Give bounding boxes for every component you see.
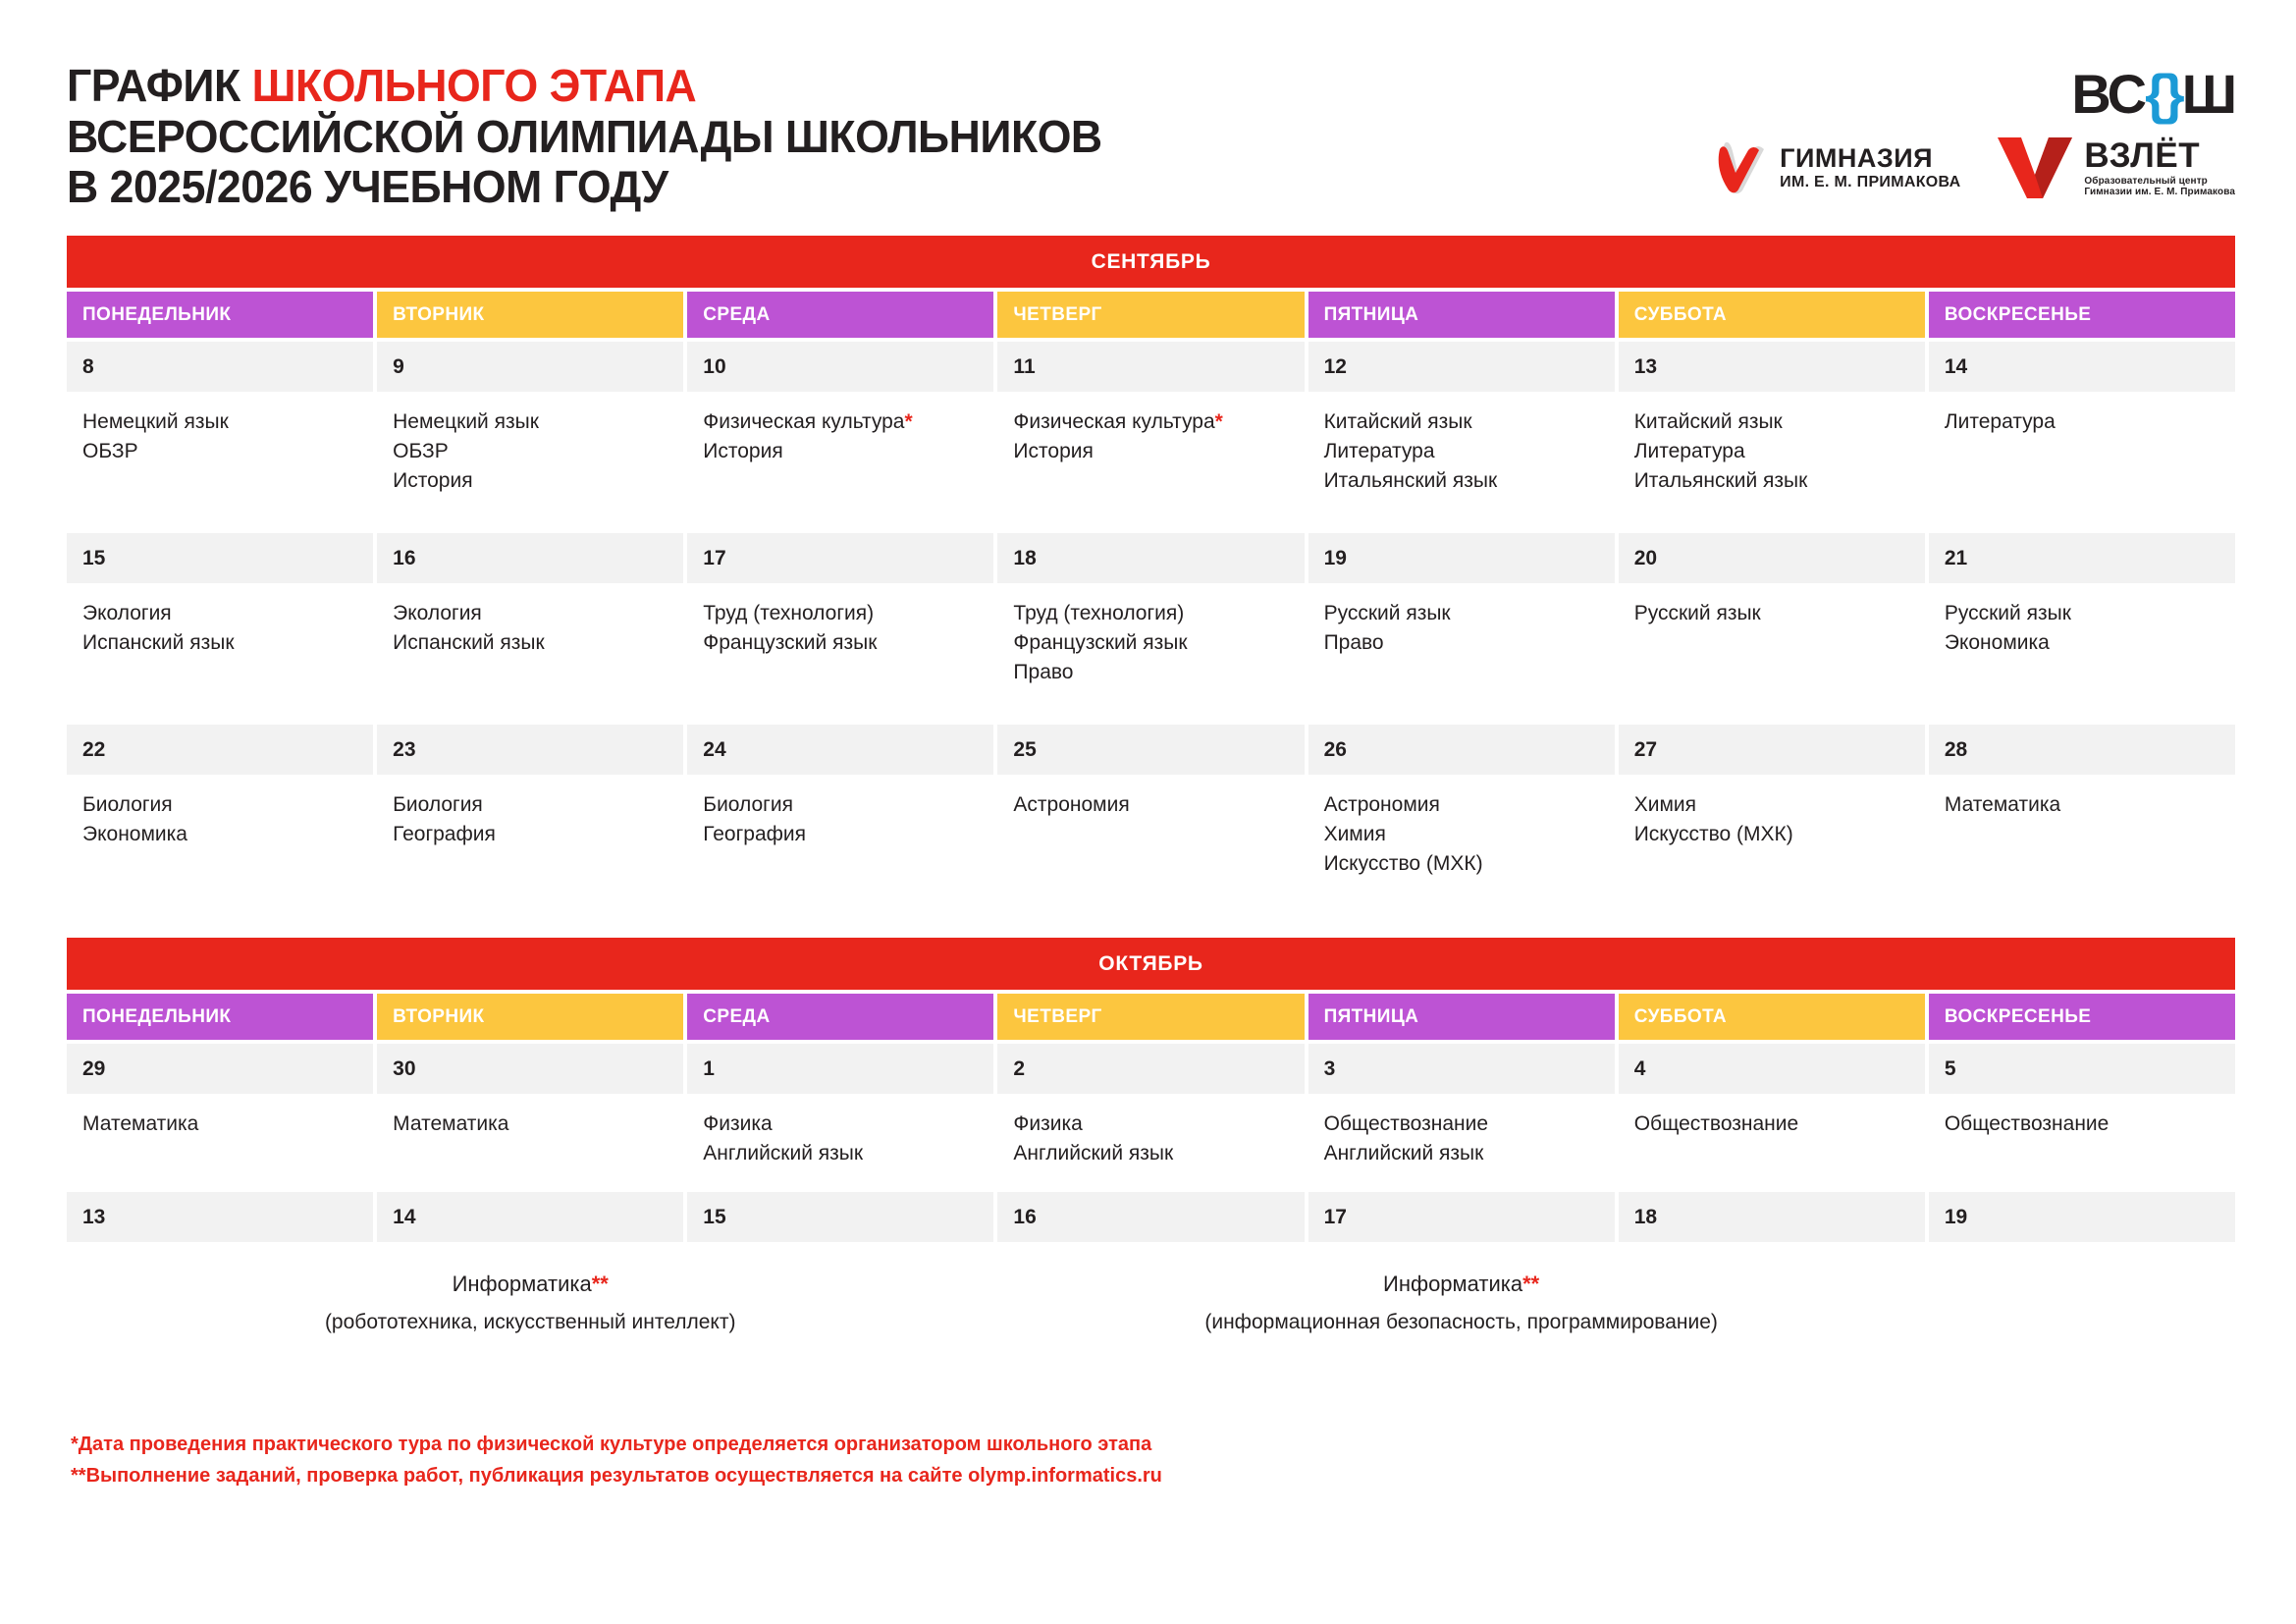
vsosh-logo-part2: Ш [2182,67,2235,122]
footnote-marker: ** [592,1272,609,1296]
day-subject-list: Обществознание [1929,1094,2235,1174]
day-number[interactable]: 16 [997,1192,1304,1242]
day-of-week-header-5: СУББОТА [1619,994,1925,1040]
day-number[interactable]: 13 [67,1192,373,1242]
day-number: 29 [67,1044,373,1094]
day-of-week-header-4: ПЯТНИЦА [1308,994,1615,1040]
subject-item: Биология [703,790,978,820]
day-number: 17 [687,533,993,583]
subject-item: Немецкий язык [82,407,357,437]
day-subject-list: ОбществознаниеАнглийский язык [1308,1094,1615,1188]
day-subject-list: Труд (технология)Французский языкПраво [997,583,1304,721]
title-line-3: В 2025/2026 УЧЕБНОМ ГОДУ [67,162,1102,213]
day-number: 23 [377,725,683,775]
day-number: 26 [1308,725,1615,775]
day-number: 15 [67,533,373,583]
subject-item: Математика [393,1110,667,1139]
day-cell[interactable]: 29Математика [67,1044,373,1188]
day-of-week-header-3: ЧЕТВЕРГ [997,292,1304,338]
day-cell[interactable]: 2ФизикаАнглийский язык [997,1044,1304,1188]
day-number: 2 [997,1044,1304,1094]
title-line-1-plain: ГРАФИК [67,60,252,111]
footnote-marker: * [1215,410,1223,433]
subject-item: Итальянский язык [1634,466,1909,496]
subject-item: Право [1324,628,1599,658]
informatics-span-row: Информатика**(робототехника, искусственн… [67,1246,2235,1374]
subject-item: Литература [1324,437,1599,466]
v-letter-icon [1998,137,2072,198]
week-row: 22БиологияЭкономика23БиологияГеография24… [67,725,2235,912]
day-subject-list: ФизикаАнглийский язык [687,1094,993,1188]
page-title: ГРАФИК ШКОЛЬНОГО ЭТАПА ВСЕРОССИЙСКОЙ ОЛИ… [67,61,1134,213]
day-subject-list: ЭкологияИспанский язык [377,583,683,721]
day-subject-list: Литература [1929,392,2235,529]
day-subject-list: Китайский языкЛитератураИтальянский язык [1308,392,1615,529]
day-number: 25 [997,725,1304,775]
informatics-label: Информатика [1383,1272,1522,1296]
subject-item: Экономика [82,820,357,849]
day-number: 22 [67,725,373,775]
subject-item: История [393,466,667,496]
day-cell[interactable]: 20Русский язык [1619,533,1925,721]
subject-item: Русский язык [1945,599,2219,628]
day-cell[interactable]: 30Математика [377,1044,683,1188]
informatics-subtitle: (робототехника, искусственный интеллект) [325,1311,736,1334]
title-line-1-accent: ШКОЛЬНОГО ЭТАПА [252,60,697,111]
day-of-week-header-3: ЧЕТВЕРГ [997,994,1304,1040]
week-row: 15ЭкологияИспанский язык16ЭкологияИспанс… [67,533,2235,721]
vsosh-logo-part1: ВС [2071,67,2145,122]
subject-item: Обществознание [1634,1110,1909,1139]
day-of-week-header-0: ПОНЕДЕЛЬНИК [67,994,373,1040]
day-of-week-header-6: ВОСКРЕСЕНЬЕ [1929,292,2235,338]
day-number: 27 [1619,725,1925,775]
calendar: СЕНТЯБРЬПОНЕДЕЛЬНИКВТОРНИКСРЕДАЧЕТВЕРГПЯ… [0,236,2296,1374]
subject-item: Право [1013,658,1288,687]
subject-item: Экология [393,599,667,628]
subject-item: Английский язык [703,1139,978,1168]
day-cell[interactable]: 11Физическая культура*История [997,342,1304,529]
subject-item: Русский язык [1634,599,1909,628]
day-of-week-header-4: ПЯТНИЦА [1308,292,1615,338]
gimnaziya-text: ГИМНАЗИЯ ИМ. Е. М. ПРИМАКОВА [1780,144,1960,191]
day-cell[interactable]: 16ЭкологияИспанский язык [377,533,683,721]
subject-item: Химия [1634,790,1909,820]
logo-area: ВС {} Ш ГИМНАЗИЯ ИМ. Е. М. ПРИМАКОВА [1717,61,2235,198]
day-cell[interactable]: 21Русский языкЭкономика [1929,533,2235,721]
day-of-week-header-row: ПОНЕДЕЛЬНИКВТОРНИКСРЕДАЧЕТВЕРГПЯТНИЦАСУБ… [67,994,2235,1040]
subject-item: География [703,820,978,849]
week-row-numbers: 13141516171819 [67,1192,2235,1242]
subject-item: Литература [1945,407,2219,437]
subject-item: Физика [703,1110,978,1139]
month-banner: СЕНТЯБРЬ [67,236,2235,288]
day-cell[interactable]: 3ОбществознаниеАнглийский язык [1308,1044,1615,1188]
day-number: 30 [377,1044,683,1094]
subject-item: Обществознание [1945,1110,2219,1139]
day-of-week-header-1: ВТОРНИК [377,994,683,1040]
day-subject-list: ФизикаАнглийский язык [997,1094,1304,1188]
subject-label: Физическая культура [1013,410,1214,433]
day-number: 8 [67,342,373,392]
subject-item: Искусство (МХК) [1634,820,1909,849]
gimnaziya-logo: ГИМНАЗИЯ ИМ. Е. М. ПРИМАКОВА [1717,139,1960,196]
subject-item: Математика [1945,790,2219,820]
day-number: 10 [687,342,993,392]
subject-item: Испанский язык [82,628,357,658]
day-number: 24 [687,725,993,775]
day-number: 20 [1619,533,1925,583]
day-cell[interactable]: 8Немецкий языкОБЗР [67,342,373,529]
day-subject-list: БиологияЭкономика [67,775,373,912]
subject-item: Обществознание [1324,1110,1599,1139]
day-number: 14 [1929,342,2235,392]
day-subject-list: БиологияГеография [687,775,993,912]
day-number[interactable]: 19 [1929,1192,2235,1242]
gimnaziya-subtitle: ИМ. Е. М. ПРИМАКОВА [1780,175,1960,191]
day-number: 11 [997,342,1304,392]
checkmark-icon [1717,139,1768,196]
subject-item: Экономика [1945,628,2219,658]
day-number[interactable]: 14 [377,1192,683,1242]
subject-item: Литература [1634,437,1909,466]
day-cell[interactable]: 9Немецкий языкОБЗРИстория [377,342,683,529]
month-block-октябрь: ОКТЯБРЬПОНЕДЕЛЬНИКВТОРНИКСРЕДАЧЕТВЕРГПЯТ… [67,938,2235,1374]
day-subject-list: Русский язык [1619,583,1925,721]
day-cell[interactable]: 13Китайский языкЛитератураИтальянский яз… [1619,342,1925,529]
day-cell[interactable]: 5Обществознание [1929,1044,2235,1188]
day-number: 1 [687,1044,993,1094]
informatics-label: Информатика [453,1272,592,1296]
day-number: 16 [377,533,683,583]
subject-item: ОБЗР [82,437,357,466]
footnotes: *Дата проведения практического тура по ф… [0,1399,2296,1491]
day-subject-list: Астрономия [997,775,1304,912]
informatics-block[interactable]: Информатика**(робототехника, искусственн… [67,1246,993,1374]
day-number: 5 [1929,1044,2235,1094]
subject-item: Физика [1013,1110,1288,1139]
day-number: 19 [1308,533,1615,583]
day-of-week-header-5: СУББОТА [1619,292,1925,338]
day-subject-list: БиологияГеография [377,775,683,912]
day-subject-list: Физическая культура*История [687,392,993,529]
day-subject-list: Математика [1929,775,2235,912]
vsosh-logo: ВС {} Ш [2071,67,2235,122]
informatics-block[interactable]: Информатика**(информационная безопасност… [997,1246,1924,1374]
vzlet-subtitle-2: Гимназии им. Е. М. Примакова [2084,188,2235,198]
day-number: 9 [377,342,683,392]
day-of-week-header-row: ПОНЕДЕЛЬНИКВТОРНИКСРЕДАЧЕТВЕРГПЯТНИЦАСУБ… [67,292,2235,338]
day-cell[interactable]: 27ХимияИскусство (МХК) [1619,725,1925,912]
subject-item: Химия [1324,820,1599,849]
week-row: 29Математика30Математика1ФизикаАнглийски… [67,1044,2235,1188]
subject-item: История [1013,437,1288,466]
subject-item: Физическая культура* [1013,407,1288,437]
day-number: 4 [1619,1044,1925,1094]
footnote-2: **Выполнение заданий, проверка работ, пу… [71,1460,2235,1491]
day-number: 13 [1619,342,1925,392]
day-subject-list: Китайский языкЛитератураИтальянский язык [1619,392,1925,529]
day-number: 28 [1929,725,2235,775]
footnote-marker: * [904,410,912,433]
day-number: 21 [1929,533,2235,583]
footnote-1: *Дата проведения практического тура по ф… [71,1429,2235,1460]
day-cell[interactable]: 14Литература [1929,342,2235,529]
day-subject-list: Русский языкЭкономика [1929,583,2235,721]
subject-item: Французский язык [703,628,978,658]
subject-label: Физическая культура [703,410,904,433]
subject-item: История [703,437,978,466]
footnote-marker: ** [1522,1272,1539,1296]
subject-item: Французский язык [1013,628,1288,658]
poster-header: ГРАФИК ШКОЛЬНОГО ЭТАПА ВСЕРОССИЙСКОЙ ОЛИ… [0,0,2296,236]
subject-item: Русский язык [1324,599,1599,628]
subject-item: Биология [82,790,357,820]
day-cell[interactable]: 18Труд (технология)Французский языкПраво [997,533,1304,721]
subject-item: Физическая культура* [703,407,978,437]
day-number: 18 [997,533,1304,583]
subject-item: ОБЗР [393,437,667,466]
day-cell[interactable]: 10Физическая культура*История [687,342,993,529]
subject-item: Английский язык [1324,1139,1599,1168]
day-subject-list: Труд (технология)Французский язык [687,583,993,721]
subject-item: Итальянский язык [1324,466,1599,496]
gimnaziya-name: ГИМНАЗИЯ [1780,144,1960,172]
day-cell[interactable]: 26АстрономияХимияИскусство (МХК) [1308,725,1615,912]
day-number[interactable]: 15 [687,1192,993,1242]
vzlet-text: ВЗЛЁТ Образовательный центр Гимназии им.… [2084,138,2235,198]
day-subject-list: Физическая культура*История [997,392,1304,529]
poster-root: ГРАФИК ШКОЛЬНОГО ЭТАПА ВСЕРОССИЙСКОЙ ОЛИ… [0,0,2296,1624]
day-subject-list: АстрономияХимияИскусство (МХК) [1308,775,1615,912]
day-cell[interactable]: 19Русский языкПраво [1308,533,1615,721]
vzlet-name: ВЗЛЁТ [2084,138,2235,175]
subject-item: Китайский язык [1634,407,1909,437]
informatics-title: Информатика** [453,1272,609,1297]
day-subject-list: ХимияИскусство (МХК) [1619,775,1925,912]
day-subject-list: Математика [377,1094,683,1174]
vsosh-brace-icon: {} [2145,67,2182,122]
day-cell[interactable]: 12Китайский языкЛитератураИтальянский яз… [1308,342,1615,529]
vzlet-logo: ВЗЛЁТ Образовательный центр Гимназии им.… [1998,137,2235,198]
day-cell[interactable]: 15ЭкологияИспанский язык [67,533,373,721]
week-row: 8Немецкий языкОБЗР9Немецкий языкОБЗРИсто… [67,342,2235,529]
day-cell[interactable]: 22БиологияЭкономика [67,725,373,912]
subject-item: Труд (технология) [1013,599,1288,628]
day-subject-list: Немецкий языкОБЗР [67,392,373,529]
day-of-week-header-2: СРЕДА [687,994,993,1040]
subject-item: Астрономия [1324,790,1599,820]
day-cell[interactable]: 24БиологияГеография [687,725,993,912]
day-cell[interactable]: 4Обществознание [1619,1044,1925,1188]
day-subject-list: Обществознание [1619,1094,1925,1174]
day-cell[interactable]: 25Астрономия [997,725,1304,912]
subject-item: Экология [82,599,357,628]
subject-item: Биология [393,790,667,820]
partner-logo-row: ГИМНАЗИЯ ИМ. Е. М. ПРИМАКОВА ВЗЛЁТ Образ… [1717,137,2235,198]
day-of-week-header-2: СРЕДА [687,292,993,338]
subject-item: Искусство (МХК) [1324,849,1599,879]
subject-item: Астрономия [1013,790,1288,820]
day-cell[interactable]: 23БиологияГеография [377,725,683,912]
day-cell[interactable]: 17Труд (технология)Французский язык [687,533,993,721]
day-subject-list: Математика [67,1094,373,1174]
day-number: 12 [1308,342,1615,392]
informatics-subtitle: (информационная безопасность, программир… [1204,1311,1718,1334]
subject-item: География [393,820,667,849]
day-of-week-header-6: ВОСКРЕСЕНЬЕ [1929,994,2235,1040]
subject-item: Китайский язык [1324,407,1599,437]
subject-item: Немецкий язык [393,407,667,437]
day-cell[interactable]: 28Математика [1929,725,2235,912]
day-of-week-header-1: ВТОРНИК [377,292,683,338]
day-number[interactable]: 18 [1619,1192,1925,1242]
subject-item: Испанский язык [393,628,667,658]
title-line-2: ВСЕРОССИЙСКОЙ ОЛИМПИАДЫ ШКОЛЬНИКОВ [67,112,1102,163]
month-banner: ОКТЯБРЬ [67,938,2235,990]
month-block-сентябрь: СЕНТЯБРЬПОНЕДЕЛЬНИКВТОРНИКСРЕДАЧЕТВЕРГПЯ… [67,236,2235,912]
day-number[interactable]: 17 [1308,1192,1615,1242]
day-subject-list: Немецкий языкОБЗРИстория [377,392,683,529]
day-number: 3 [1308,1044,1615,1094]
day-subject-list: Русский языкПраво [1308,583,1615,721]
subject-item: Математика [82,1110,357,1139]
day-cell[interactable]: 1ФизикаАнглийский язык [687,1044,993,1188]
title-line-1: ГРАФИК ШКОЛЬНОГО ЭТАПА [67,61,1102,112]
subject-item: Английский язык [1013,1139,1288,1168]
informatics-title: Информатика** [1383,1272,1539,1297]
subject-item: Труд (технология) [703,599,978,628]
day-subject-list: ЭкологияИспанский язык [67,583,373,721]
day-of-week-header-0: ПОНЕДЕЛЬНИК [67,292,373,338]
empty-day-cell [1929,1246,2235,1374]
